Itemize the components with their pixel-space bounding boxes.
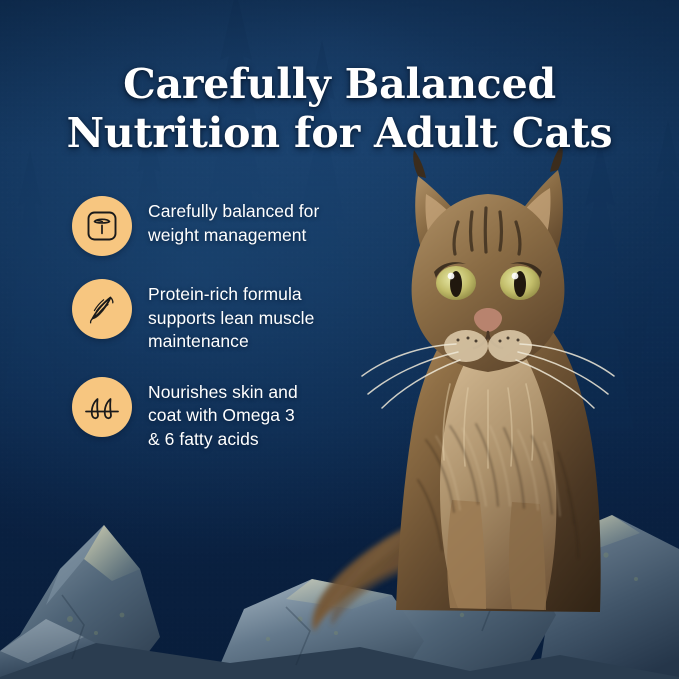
benefit-line: Carefully balanced for (148, 201, 319, 221)
benefit-line: Protein-rich formula (148, 284, 302, 304)
benefit-text-skin-coat: Nourishes skin and coat with Omega 3 & 6… (148, 377, 298, 452)
hair-follicle-icon (82, 388, 122, 426)
benefit-item-protein: Protein-rich formula supports lean muscl… (72, 279, 372, 354)
benefit-line: Nourishes skin and (148, 382, 298, 402)
benefit-line: weight management (148, 225, 306, 245)
benefit-line: supports lean muscle (148, 308, 314, 328)
benefit-icon-badge (72, 279, 132, 339)
benefit-icon-badge (72, 196, 132, 256)
benefit-list: Carefully balanced for weight management (72, 196, 372, 451)
benefit-icon-badge (72, 377, 132, 437)
headline-line-2: Nutrition for Adult Cats (0, 109, 679, 158)
benefit-text-weight: Carefully balanced for weight management (148, 196, 319, 247)
page-title: Carefully Balanced Nutrition for Adult C… (0, 60, 679, 158)
muscle-fiber-icon (83, 290, 121, 328)
headline-line-1: Carefully Balanced (123, 60, 556, 108)
benefit-line: & 6 fatty acids (148, 429, 259, 449)
weight-scale-icon (83, 207, 121, 245)
benefit-line: maintenance (148, 331, 249, 351)
benefit-line: coat with Omega 3 (148, 405, 295, 425)
benefit-item-weight: Carefully balanced for weight management (72, 196, 372, 256)
benefit-text-protein: Protein-rich formula supports lean muscl… (148, 279, 314, 354)
benefit-item-skin-coat: Nourishes skin and coat with Omega 3 & 6… (72, 377, 372, 452)
promo-banner: Carefully Balanced Nutrition for Adult C… (0, 0, 679, 679)
